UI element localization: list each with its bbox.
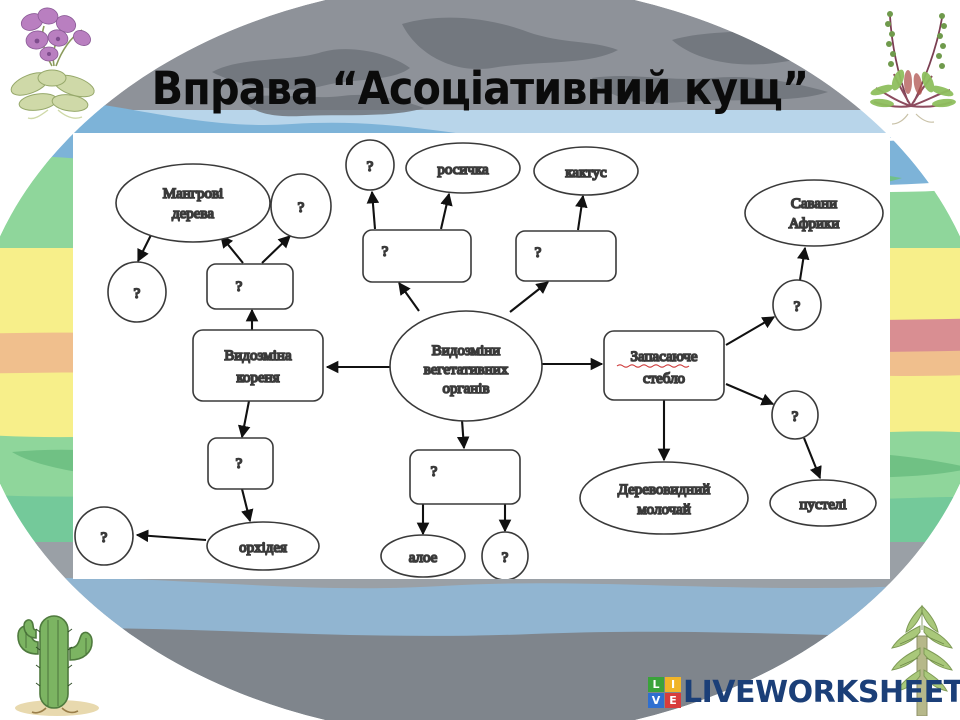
slide-title: Вправа “Асоціативний кущ” [38,62,921,115]
node-q-aloe-label: ? [502,550,509,566]
node-root-mod-line-2: кореня [236,370,279,386]
node-sundew-label: росичка [437,162,489,178]
edge-storage-stem-to-q-stem-down [726,384,773,404]
edge-orchid-to-q-orchid [137,535,206,540]
logo-square-e: E [665,693,681,708]
node-storage-stem-line-1: Запасаюче [631,349,698,365]
node-q-root-mod-label: ? [236,279,243,295]
node-storage-stem[interactable]: Запасаюче стебло [604,331,724,400]
liveworksheets-wordmark: LIVEWORKSHEETS [683,675,960,710]
node-root-mod-line-1: Видозміна [224,348,292,364]
node-q-stem-up-label: ? [794,299,801,315]
node-q-leaf-top[interactable]: ? [346,140,394,190]
worksheet-panel: Видозміни вегетативних органів Мангрові … [73,133,890,579]
node-mangrove-line-1: Мангрові [163,186,223,202]
node-aloe-label: алое [409,550,438,566]
node-q-mangrove-down-label: ? [134,286,141,302]
node-savanna[interactable]: Савани Африки [745,180,883,246]
node-q-leaf-mod[interactable]: ? [363,230,471,282]
node-q-stem-up[interactable]: ? [773,280,821,330]
slide-canvas: Вправа “Асоціативний кущ” [0,0,960,720]
node-q-mangrove-right-label: ? [298,200,305,216]
node-q-aloe[interactable]: ? [482,532,528,579]
node-q-stem-down[interactable]: ? [772,391,818,439]
node-savanna-line-2: Африки [789,216,840,232]
edge-q-leaf-mod-to-q-leaf-top [372,192,375,229]
node-deserts[interactable]: пустелі [770,480,876,526]
node-q-root-mod[interactable]: ? [207,264,293,309]
node-aloe[interactable]: алое [381,535,465,577]
node-cactus-label: кактус [565,165,607,181]
node-q-shoot-mod[interactable]: ? [516,231,616,281]
node-cactus[interactable]: кактус [534,147,638,195]
node-root-mod[interactable]: Видозміна кореня [193,330,323,401]
logo-square-l: L [648,677,664,692]
node-center-line-2: вегетативних [424,362,509,378]
node-q-mangrove-right[interactable]: ? [271,174,331,238]
node-orchid-label: орхідея [239,540,287,556]
edge-q-leaf-mod-to-sundew [441,194,449,229]
node-q-root-below[interactable]: ? [208,438,273,489]
edge-storage-stem-to-q-stem-up [726,317,774,345]
node-group: Видозміни вегетативних органів Мангрові … [75,140,883,579]
node-q-root-below-label: ? [236,456,243,472]
edge-center-to-q-shoot-mod [510,282,548,312]
node-center-line-3: органів [442,381,489,397]
liveworksheets-watermark: L I V E LIVEWORKSHEETS [648,672,960,712]
edge-q-root-below-to-orchid [242,489,250,521]
cactus-illustration [2,598,112,718]
edge-center-to-q-leaf-mod [399,283,419,311]
concept-map-svg: Видозміни вегетативних органів Мангрові … [73,133,890,579]
node-q-leaf-top-label: ? [367,159,374,175]
node-q-stem-down-label: ? [792,409,799,425]
node-storage-stem-line-2: стебло [643,371,685,387]
node-mangrove[interactable]: Мангрові дерева [116,164,270,242]
edge-center-to-q-leaf-succ [462,420,464,448]
node-q-mangrove-down[interactable]: ? [108,262,166,322]
liveworksheets-logo-icon: L I V E [648,677,681,708]
node-center-line-1: Видозміни [432,343,501,359]
edge-q-root-mod-to-q-mangrove-right [262,236,290,263]
node-mangrove-line-2: дерева [172,206,214,222]
logo-square-i: I [665,677,681,692]
edge-q-stem-up-to-savanna [800,248,805,280]
node-center[interactable]: Видозміни вегетативних органів [390,311,542,421]
node-q-leaf-mod-label: ? [382,244,389,260]
logo-square-v: V [648,693,664,708]
node-deserts-label: пустелі [799,497,846,513]
node-q-orchid[interactable]: ? [75,507,133,565]
node-sundew[interactable]: росичка [406,143,520,193]
edge-mangrove-to-q-mangrove-down [138,233,152,261]
node-q-leaf-succ[interactable]: ? [410,450,520,504]
node-q-shoot-mod-label: ? [535,245,542,261]
node-savanna-line-1: Савани [791,196,837,212]
edge-root-mod-to-q-root-below [242,401,249,437]
node-euphorbia-line-2: молочай [637,502,691,518]
edge-q-shoot-mod-to-cactus [578,196,583,230]
edge-q-root-mod-to-mangrove [221,236,243,263]
node-euphorbia-line-1: Деревовидний [618,482,711,498]
node-euphorbia[interactable]: Деревовидний молочай [580,462,748,534]
node-q-leaf-succ-label: ? [431,464,438,480]
node-q-orchid-label: ? [101,530,108,546]
edge-q-stem-down-to-deserts [804,438,820,478]
node-orchid[interactable]: орхідея [207,522,319,570]
